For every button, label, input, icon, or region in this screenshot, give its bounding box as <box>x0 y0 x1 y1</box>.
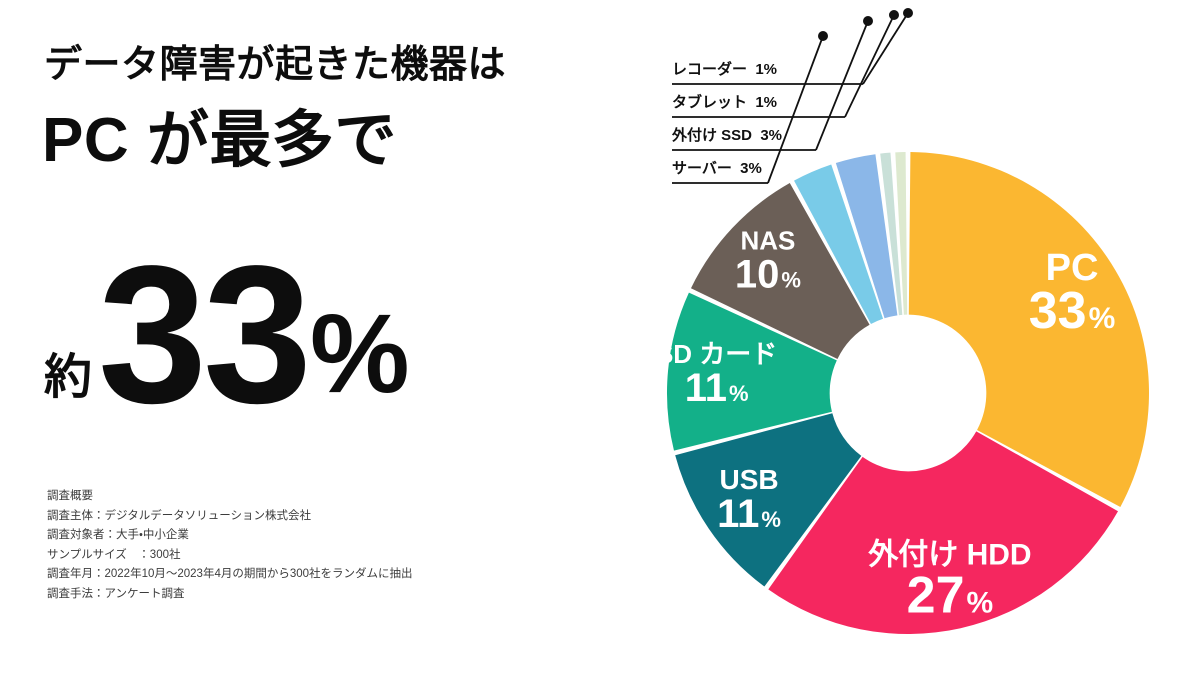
key-figure: 約 33 % <box>44 236 408 416</box>
key-figure-approx-label: 約 <box>44 354 92 402</box>
callout-label-外付け: 外付け SSD 3% <box>672 124 782 145</box>
callout-dot-marker <box>889 10 899 20</box>
callout-label-レコーダー: レコーダー 1% <box>672 58 777 79</box>
slice-label-name-NAS: NAS <box>740 225 795 255</box>
callout-dot-marker <box>863 16 873 26</box>
callout-label-タブレット: タブレット 1% <box>672 91 777 112</box>
callout-dot-marker <box>818 31 828 41</box>
survey-overview-footnotes: 調査概要 調査主体：デジタルデータソリューション株式会社 調査対象者：大手・中小… <box>47 487 413 604</box>
pie-chart-panel: PC 33%外付け HDD 27%USB 11%SD カード 11%NAS 10… <box>620 0 1200 675</box>
footnote-line: 調査対象者：大手・中小企業 <box>47 526 413 546</box>
callout-dot-marker <box>903 8 913 18</box>
footnote-line: 調査主体：デジタルデータソリューション株式会社 <box>47 507 413 527</box>
headline-line-1: データ障害が起きた機器は <box>44 46 506 84</box>
key-figure-value: 33 <box>98 255 308 416</box>
footnote-line: 調査手法：アンケート調査 <box>47 585 413 605</box>
slice-label-name-USB: USB <box>719 464 778 495</box>
key-figure-percent-sign: % <box>310 298 410 410</box>
headline-panel: データ障害が起きた機器は PC が最多で 約 33 % 調査概要 調査主体：デジ… <box>0 0 620 675</box>
footnote-line: 調査年月：2022年10月〜2023年4月の期間から300社をランダムに抽出 <box>47 565 413 585</box>
infographic-stage: データ障害が起きた機器は PC が最多で 約 33 % 調査概要 調査主体：デジ… <box>0 0 1200 675</box>
footnote-line: 調査概要 <box>47 487 413 507</box>
callout-label-サーバー: サーバー 3% <box>672 157 762 178</box>
slice-label-name-SD-カード: SD カード <box>656 339 777 369</box>
callout-leader-line <box>845 15 894 117</box>
footnote-line: サンプルサイズ ：300社 <box>47 546 413 566</box>
headline-line-2: PC が最多で <box>42 110 397 172</box>
